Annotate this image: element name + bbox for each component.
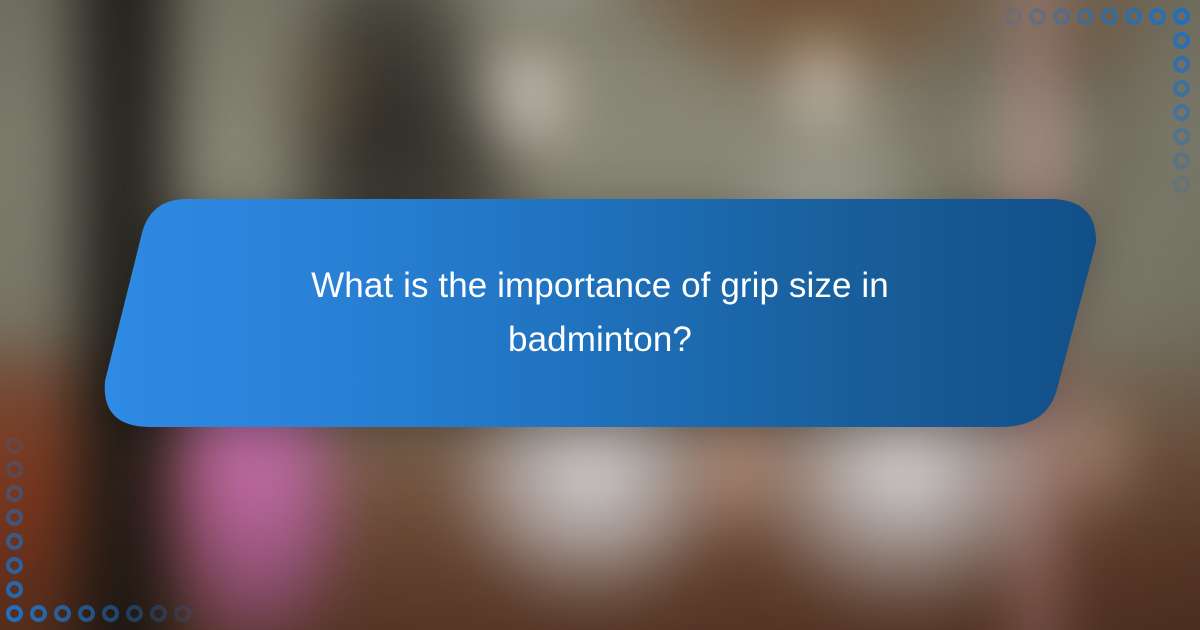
- question-card-graphic: What is the importance of grip size in b…: [0, 0, 1200, 630]
- question-line-1: What is the importance of grip size in: [311, 259, 889, 313]
- question-card: What is the importance of grip size in b…: [95, 193, 1105, 433]
- question-text: What is the importance of grip size in b…: [95, 193, 1105, 433]
- question-line-2: badminton?: [508, 313, 692, 367]
